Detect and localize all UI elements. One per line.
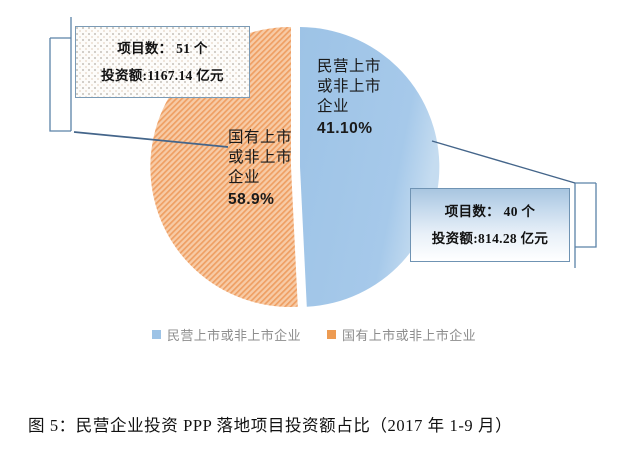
pie-label-state-percent: 58.9% <box>228 190 292 210</box>
legend-swatch-private <box>152 330 161 339</box>
callout-left-project-count: 项目数： 51 个 <box>76 42 249 56</box>
figure-caption: 图 5：民营企业投资 PPP 落地项目投资额占比（2017 年 1-9 月） <box>28 412 628 436</box>
figure-container: 民营上市 或非上市 企业 41.10% 国有上市 或非上市 企业 58.9% <box>0 0 628 460</box>
legend-item-state-owned[interactable]: 国有上市或非上市企业 <box>327 325 476 344</box>
chart-legend: 民营上市或非上市企业 国有上市或非上市企业 <box>0 325 628 344</box>
pie-label-state-line3: 企业 <box>228 168 292 188</box>
callout-box-private[interactable]: 项目数： 40 个 投资额:814.28 亿元 <box>410 188 570 262</box>
pie-label-private-line1: 民营上市 <box>317 57 381 77</box>
left-callout-bracket <box>50 17 71 131</box>
legend-item-private[interactable]: 民营上市或非上市企业 <box>152 325 301 344</box>
pie-label-state-line2: 或非上市 <box>228 148 292 168</box>
legend-label-private: 民营上市或非上市企业 <box>167 325 301 344</box>
callout-left-investment: 投资额:1167.14 亿元 <box>76 69 249 83</box>
legend-swatch-state-owned <box>327 330 336 339</box>
pie-label-state-line1: 国有上市 <box>228 128 292 148</box>
callout-box-state-owned[interactable]: 项目数： 51 个 投资额:1167.14 亿元 <box>75 26 250 98</box>
callout-right-project-count: 项目数： 40 个 <box>411 205 569 219</box>
pie-label-private-line2: 或非上市 <box>317 77 381 97</box>
right-leader-line <box>432 141 575 183</box>
right-callout-bracket <box>575 183 596 268</box>
pie-label-private: 民营上市 或非上市 企业 41.10% <box>317 57 381 140</box>
pie-label-state-owned: 国有上市 或非上市 企业 58.9% <box>228 128 292 211</box>
legend-label-state-owned: 国有上市或非上市企业 <box>342 325 476 344</box>
callout-right-investment: 投资额:814.28 亿元 <box>411 232 569 246</box>
pie-label-private-percent: 41.10% <box>317 119 381 139</box>
pie-label-private-line3: 企业 <box>317 97 381 117</box>
